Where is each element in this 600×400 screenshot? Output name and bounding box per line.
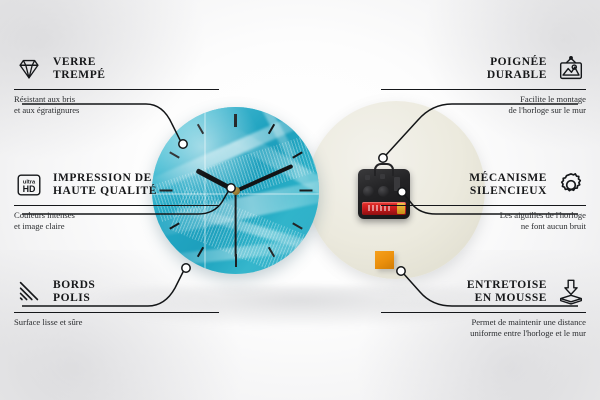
callout-divider (14, 89, 219, 90)
callout-title: POIGNÉE DURABLE (487, 56, 547, 83)
callout-title: VERRE TREMPÉ (53, 56, 106, 83)
foam-spacer-icon (556, 277, 586, 307)
callout-title: BORDS POLIS (53, 279, 95, 306)
mechanism-dial-left (363, 186, 374, 197)
callout-mecanisme-silencieux: MÉCANISME SILENCIEUX Les aiguilles de l'… (381, 168, 586, 232)
polished-edges-icon (14, 277, 44, 307)
mechanism-detail-dot (365, 175, 370, 180)
foam-spacer-pad (375, 251, 394, 269)
callout-poignee-durable: POIGNÉE DURABLE Facilite le montage de l… (381, 52, 586, 116)
callout-description: Surface lisse et sûre (14, 317, 219, 328)
svg-text:HD: HD (23, 184, 36, 194)
gear-icon (556, 170, 586, 200)
callout-description: Permet de maintenir une distance uniform… (381, 317, 586, 338)
callout-divider (381, 89, 586, 90)
callout-header: ENTRETOISE EN MOUSSE (381, 275, 586, 309)
callout-description: Les aiguilles de l'horloge ne font aucun… (381, 210, 586, 231)
callout-title: ENTRETOISE EN MOUSSE (467, 279, 547, 306)
callout-divider (14, 312, 219, 313)
callout-divider (381, 205, 586, 206)
callout-divider (14, 205, 219, 206)
callout-description: Résistant aux bris et aux égratignures (14, 94, 219, 115)
callout-header: BORDS POLIS (14, 275, 219, 309)
callout-impression-haute-qualite: ultra HD IMPRESSION DE HAUTE QUALITÉ Cou… (14, 168, 219, 232)
callout-divider (381, 312, 586, 313)
callout-description: Couleurs intenses et image claire (14, 210, 219, 231)
callout-header: MÉCANISME SILENCIEUX (381, 168, 586, 202)
callout-entretoise-en-mousse: ENTRETOISE EN MOUSSE Permet de maintenir… (381, 275, 586, 339)
callout-verre-trempe: VERRE TREMPÉ Résistant aux bris et aux é… (14, 52, 219, 116)
diamond-icon (14, 54, 44, 84)
callout-description: Facilite le montage de l'horloge sur le … (381, 94, 586, 115)
callout-title: MÉCANISME SILENCIEUX (469, 172, 547, 199)
callout-bords-polis: BORDS POLIS Surface lisse et sûre (14, 275, 219, 328)
callout-header: POIGNÉE DURABLE (381, 52, 586, 86)
callout-header: VERRE TREMPÉ (14, 52, 219, 86)
picture-hanger-icon (556, 54, 586, 84)
infographic-canvas: VERRE TREMPÉ Résistant aux bris et aux é… (0, 0, 600, 400)
ultra-hd-badge-icon: ultra HD (14, 170, 44, 200)
callout-title: IMPRESSION DE HAUTE QUALITÉ (53, 172, 157, 199)
callout-header: ultra HD IMPRESSION DE HAUTE QUALITÉ (14, 168, 219, 202)
